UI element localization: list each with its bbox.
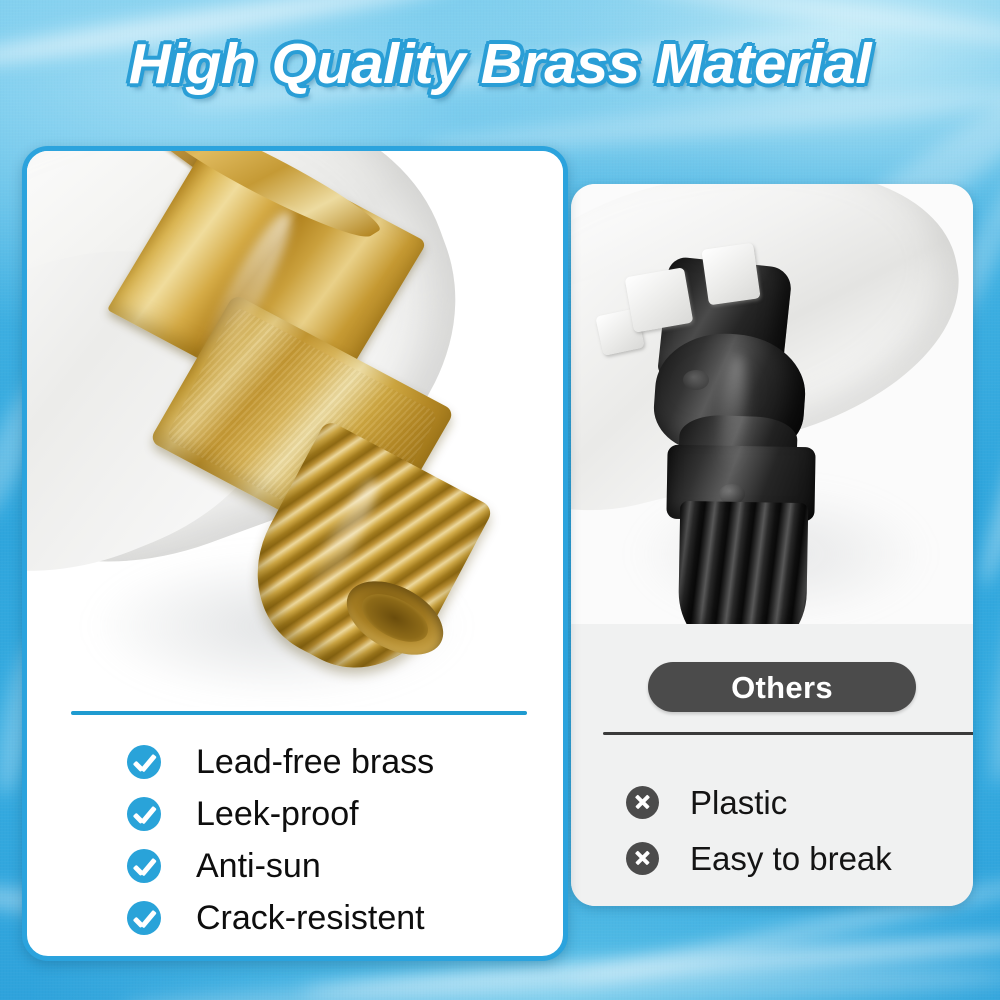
x-circle-icon	[626, 842, 659, 875]
check-circle-icon	[127, 797, 161, 831]
list-item: Lead-free brass	[127, 736, 557, 788]
list-item-label: Easy to break	[690, 842, 892, 875]
black-thread-shape	[678, 501, 809, 624]
brass-product-card: Lead-free brass Leek-proof Anti-sun Crac…	[22, 146, 568, 961]
others-comparison-card: Others Plastic Easy to break	[571, 184, 973, 906]
brass-pipe-fitting-photo	[27, 151, 563, 707]
list-item-label: Crack-resistent	[196, 901, 425, 935]
white-clip-shape	[625, 267, 694, 333]
features-divider	[71, 711, 527, 715]
check-circle-icon	[127, 849, 161, 883]
list-item-label: Leek-proof	[196, 797, 359, 831]
x-circle-icon	[626, 786, 659, 819]
list-item: Easy to break	[626, 830, 966, 886]
list-item: Leek-proof	[127, 788, 557, 840]
page-title: High Quality Brass Material	[0, 26, 1000, 102]
list-item: Anti-sun	[127, 840, 557, 892]
check-circle-icon	[127, 745, 161, 779]
black-dimple	[683, 370, 709, 390]
list-item-label: Lead-free brass	[196, 745, 434, 779]
check-circle-icon	[127, 901, 161, 935]
others-badge-label: Others	[731, 672, 833, 703]
black-plastic-fitting-photo	[571, 184, 973, 624]
others-badge: Others	[648, 662, 916, 712]
page-title-text: High Quality Brass Material	[129, 36, 871, 93]
list-item: Plastic	[626, 774, 966, 830]
list-item: Crack-resistent	[127, 892, 557, 944]
list-item-label: Plastic	[690, 786, 787, 819]
others-divider	[603, 732, 973, 735]
others-drawback-list: Plastic Easy to break	[626, 774, 966, 886]
brass-feature-list: Lead-free brass Leek-proof Anti-sun Crac…	[127, 736, 557, 944]
list-item-label: Anti-sun	[196, 849, 321, 883]
white-clip-shape	[701, 243, 760, 306]
others-info-panel: Others Plastic Easy to break	[571, 624, 973, 906]
